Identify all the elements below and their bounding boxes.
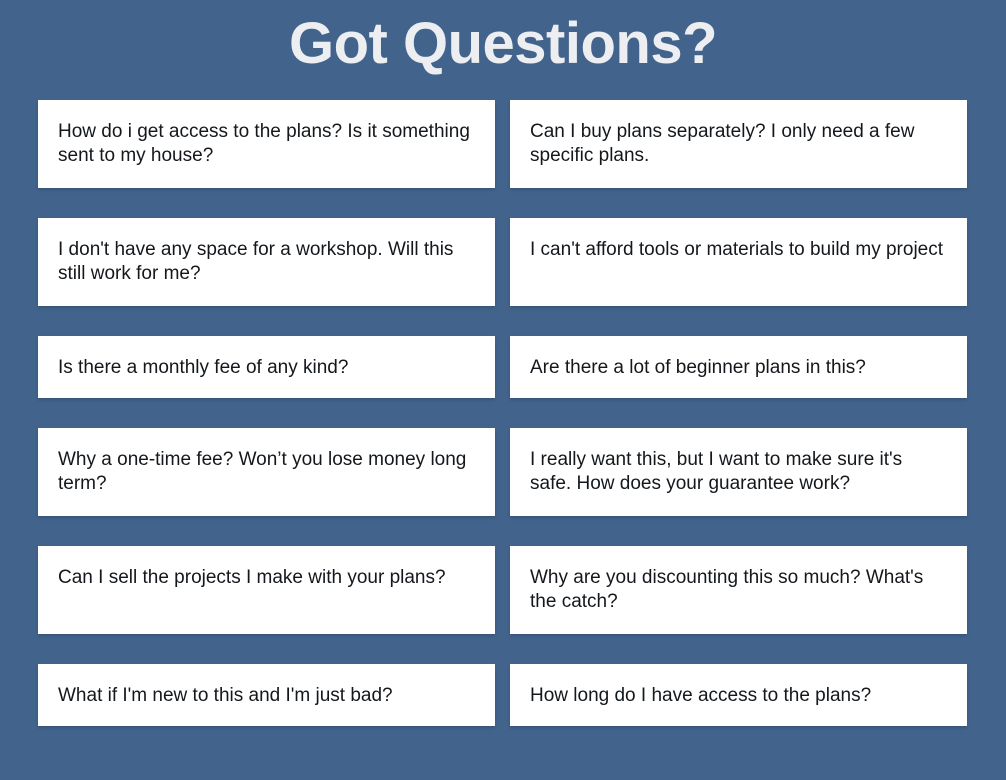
faq-row: How do i get access to the plans? Is it … <box>38 100 968 188</box>
faq-grid: How do i get access to the plans? Is it … <box>38 80 968 726</box>
faq-question-text: Why a one-time fee? Won’t you lose money… <box>58 448 475 496</box>
faq-card[interactable]: Why are you discounting this so much? Wh… <box>510 546 967 634</box>
faq-card[interactable]: How do i get access to the plans? Is it … <box>38 100 495 188</box>
faq-card[interactable]: Can I buy plans separately? I only need … <box>510 100 967 188</box>
faq-card[interactable]: Are there a lot of beginner plans in thi… <box>510 336 967 398</box>
faq-question-text: Why are you discounting this so much? Wh… <box>530 566 947 614</box>
faq-question-text: How do i get access to the plans? Is it … <box>58 120 475 168</box>
faq-question-text: I don't have any space for a workshop. W… <box>58 238 475 286</box>
faq-card[interactable]: How long do I have access to the plans? <box>510 664 967 726</box>
page-title: Got Questions? <box>0 0 1006 80</box>
faq-question-text: Are there a lot of beginner plans in thi… <box>530 356 947 380</box>
faq-card[interactable]: What if I'm new to this and I'm just bad… <box>38 664 495 726</box>
faq-card[interactable]: I really want this, but I want to make s… <box>510 428 967 516</box>
faq-row: I don't have any space for a workshop. W… <box>38 218 968 306</box>
faq-card[interactable]: I don't have any space for a workshop. W… <box>38 218 495 306</box>
faq-card[interactable]: I can't afford tools or materials to bui… <box>510 218 967 306</box>
faq-question-text: I really want this, but I want to make s… <box>530 448 947 496</box>
faq-question-text: Can I sell the projects I make with your… <box>58 566 475 590</box>
faq-row: Is there a monthly fee of any kind? Are … <box>38 336 968 398</box>
faq-row: What if I'm new to this and I'm just bad… <box>38 664 968 726</box>
faq-card[interactable]: Is there a monthly fee of any kind? <box>38 336 495 398</box>
faq-question-text: I can't afford tools or materials to bui… <box>530 238 947 262</box>
faq-row: Can I sell the projects I make with your… <box>38 546 968 634</box>
faq-row: Why a one-time fee? Won’t you lose money… <box>38 428 968 516</box>
faq-question-text: How long do I have access to the plans? <box>530 684 947 708</box>
faq-page: Got Questions? How do i get access to th… <box>0 0 1006 780</box>
faq-card[interactable]: Why a one-time fee? Won’t you lose money… <box>38 428 495 516</box>
faq-question-text: Is there a monthly fee of any kind? <box>58 356 475 380</box>
faq-question-text: Can I buy plans separately? I only need … <box>530 120 947 168</box>
faq-question-text: What if I'm new to this and I'm just bad… <box>58 684 475 708</box>
faq-card[interactable]: Can I sell the projects I make with your… <box>38 546 495 634</box>
